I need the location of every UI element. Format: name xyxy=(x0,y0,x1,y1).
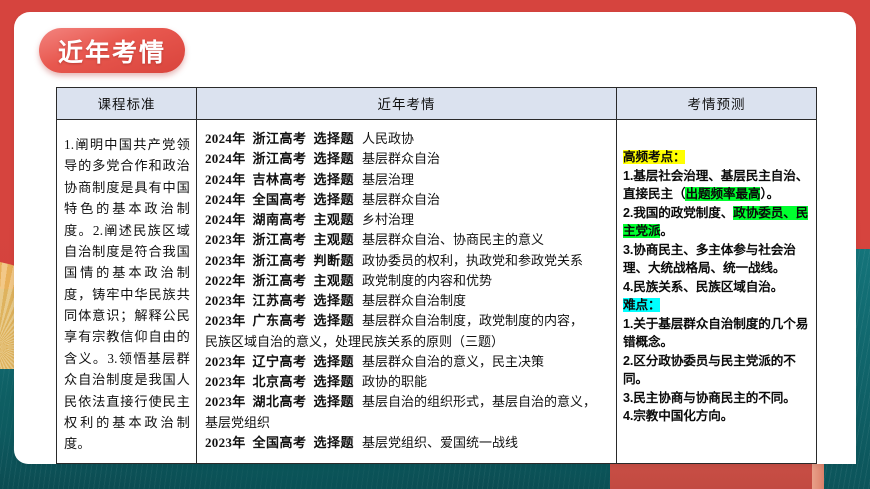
cell-recent-exams: 2024年浙江高考选择题人民政协2024年浙江高考选择题基层群众自治2024年吉… xyxy=(197,120,617,464)
hot-item-tail: 。 xyxy=(660,224,673,238)
exam-year: 2024年 xyxy=(205,192,246,207)
slide-root: 近年考情 课程标准 近年考情 考情预测 xyxy=(0,0,870,489)
exam-region: 浙江高考 xyxy=(253,232,307,247)
exam-row: 2023年北京高考选择题政协的职能 xyxy=(205,372,610,392)
exam-year: 2024年 xyxy=(205,212,246,227)
cell-exam-prediction: 高频考点：1.基层社会治理、基层民主自治、直接民主（出题频率最高）。2.我国的政… xyxy=(617,120,817,464)
prediction-hard-item: 2.区分政协委员与民主党派的不同。 xyxy=(623,352,811,389)
exam-year: 2024年 xyxy=(205,151,246,166)
exam-row: 2024年浙江高考选择题基层群众自治 xyxy=(205,149,610,169)
exam-question-type: 选择题 xyxy=(314,374,355,389)
exam-question-type: 主观题 xyxy=(314,232,355,247)
exam-question-type: 选择题 xyxy=(314,192,355,207)
exam-year: 2023年 xyxy=(205,374,246,389)
exam-topic: 基层群众自治 xyxy=(362,192,440,207)
exam-year: 2024年 xyxy=(205,172,246,187)
exam-region: 北京高考 xyxy=(253,374,307,389)
exam-topic: 基层群众自治制度，政党制度的内容， xyxy=(362,313,583,328)
exam-year: 2023年 xyxy=(205,394,246,409)
exam-question-type: 选择题 xyxy=(314,131,355,146)
exam-topic: 基层自治的组织形式，基层自治的意义， xyxy=(362,394,596,409)
exam-year: 2023年 xyxy=(205,293,246,308)
exam-topic: 政党制度的内容和优势 xyxy=(362,273,492,288)
exam-row: 2024年湖南高考主观题乡村治理 xyxy=(205,210,610,230)
exam-question-type: 选择题 xyxy=(314,394,355,409)
hot-item-highlight: 出题频率最高 xyxy=(685,187,760,201)
exam-year: 2023年 xyxy=(205,253,246,268)
hot-label-highlight: 高频考点： xyxy=(623,150,685,164)
exam-topic-continuation: 民族区域自治的意义，处理民族关系的原则（三题） xyxy=(205,332,610,352)
hot-item-text: 2.我国的政党制度、 xyxy=(623,206,733,220)
hard-label-highlight: 难点： xyxy=(623,298,660,312)
header-curriculum-standard: 课程标准 xyxy=(57,88,197,120)
exam-question-type: 选择题 xyxy=(314,293,355,308)
exam-topic: 政协委员的权利，执政党和参政党关系 xyxy=(362,253,583,268)
header-exam-prediction: 考情预测 xyxy=(617,88,817,120)
content-card: 近年考情 课程标准 近年考情 考情预测 xyxy=(14,12,856,464)
section-title-badge: 近年考情 xyxy=(39,28,185,73)
exam-question-type: 选择题 xyxy=(314,435,355,450)
exam-region: 浙江高考 xyxy=(253,253,307,268)
exam-row: 2024年吉林高考选择题基层治理 xyxy=(205,170,610,190)
exam-region: 浙江高考 xyxy=(253,131,307,146)
exam-topic: 基层群众自治制度 xyxy=(362,293,466,308)
exam-row: 2023年广东高考选择题基层群众自治制度，政党制度的内容， xyxy=(205,311,610,331)
exam-topic: 基层治理 xyxy=(362,172,414,187)
table-header-row: 课程标准 近年考情 考情预测 xyxy=(57,88,817,120)
exam-region: 广东高考 xyxy=(253,313,307,328)
exam-region: 浙江高考 xyxy=(253,151,307,166)
exam-topic: 乡村治理 xyxy=(362,212,414,227)
exam-year: 2024年 xyxy=(205,131,246,146)
exam-question-type: 主观题 xyxy=(314,273,355,288)
curriculum-standards-text: 1.阐明中国共产党领导的多党合作和政治协商制度是具有中国特色的基本政治制度。2.… xyxy=(64,134,190,455)
exam-region: 吉林高考 xyxy=(253,172,307,187)
exam-topic: 基层群众自治 xyxy=(362,151,440,166)
prediction-hot-label: 高频考点： xyxy=(623,148,811,167)
exam-question-type: 主观题 xyxy=(314,212,355,227)
exam-row: 2023年浙江高考主观题基层群众自治、协商民主的意义 xyxy=(205,230,610,250)
exam-topic: 人民政协 xyxy=(362,131,414,146)
exam-table: 课程标准 近年考情 考情预测 1.阐明中国共产党领导的多党合作和政治协商制度是具… xyxy=(56,87,817,464)
exam-region: 湖北高考 xyxy=(253,394,307,409)
exam-row: 2023年浙江高考判断题政协委员的权利，执政党和参政党关系 xyxy=(205,251,610,271)
table-body-row: 1.阐明中国共产党领导的多党合作和政治协商制度是具有中国特色的基本政治制度。2.… xyxy=(57,120,817,464)
exam-region: 全国高考 xyxy=(253,435,307,450)
recent-exams-list: 2024年浙江高考选择题人民政协2024年浙江高考选择题基层群众自治2024年吉… xyxy=(205,129,610,453)
exam-region: 辽宁高考 xyxy=(253,354,307,369)
exam-topic: 基层群众自治、协商民主的意义 xyxy=(362,232,544,247)
prediction-hot-item: 3.协商民主、多主体参与社会治理、大统战格局、统一战线。 xyxy=(623,241,811,278)
section-title-text: 近年考情 xyxy=(58,33,166,69)
exam-topic-continuation: 基层党组织 xyxy=(205,413,610,433)
prediction-hard-label: 难点： xyxy=(623,296,811,315)
exam-year: 2022年 xyxy=(205,273,246,288)
exam-year: 2023年 xyxy=(205,354,246,369)
exam-year: 2023年 xyxy=(205,232,246,247)
prediction-hard-item: 4.宗教中国化方向。 xyxy=(623,407,811,426)
exam-question-type: 选择题 xyxy=(314,313,355,328)
exam-region: 江苏高考 xyxy=(253,293,307,308)
exam-question-type: 选择题 xyxy=(314,172,355,187)
exam-region: 全国高考 xyxy=(253,192,307,207)
exam-row: 2023年辽宁高考选择题基层群众自治的意义，民主决策 xyxy=(205,352,610,372)
cell-curriculum-standards: 1.阐明中国共产党领导的多党合作和政治协商制度是具有中国特色的基本政治制度。2.… xyxy=(57,120,197,464)
exam-region: 浙江高考 xyxy=(253,273,307,288)
exam-row: 2022年浙江高考主观题政党制度的内容和优势 xyxy=(205,271,610,291)
exam-row: 2024年浙江高考选择题人民政协 xyxy=(205,129,610,149)
hot-item-text: 4.民族关系、民族区域自治。 xyxy=(623,280,783,294)
exam-table-wrapper: 课程标准 近年考情 考情预测 1.阐明中国共产党领导的多党合作和政治协商制度是具… xyxy=(56,87,816,464)
exam-topic: 基层群众自治的意义，民主决策 xyxy=(362,354,544,369)
exam-region: 湖南高考 xyxy=(253,212,307,227)
exam-year: 2023年 xyxy=(205,435,246,450)
exam-question-type: 判断题 xyxy=(314,253,355,268)
exam-row: 2024年全国高考选择题基层群众自治 xyxy=(205,190,610,210)
exam-row: 2023年江苏高考选择题基层群众自治制度 xyxy=(205,291,610,311)
exam-prediction-block: 高频考点：1.基层社会治理、基层民主自治、直接民主（出题频率最高）。2.我国的政… xyxy=(623,148,811,426)
exam-topic: 基层党组织、爱国统一战线 xyxy=(362,435,518,450)
exam-row: 2023年全国高考选择题基层党组织、爱国统一战线 xyxy=(205,433,610,453)
hot-item-tail: ）。 xyxy=(760,187,779,201)
prediction-hot-item: 2.我国的政党制度、政协委员、民主党派。 xyxy=(623,204,811,241)
exam-row: 2023年湖北高考选择题基层自治的组织形式，基层自治的意义， xyxy=(205,392,610,412)
header-recent-exams: 近年考情 xyxy=(197,88,617,120)
exam-year: 2023年 xyxy=(205,313,246,328)
hot-item-text: 3.协商民主、多主体参与社会治理、大统战格局、统一战线。 xyxy=(623,243,796,276)
prediction-hard-item: 1.关于基层群众自治制度的几个易错概念。 xyxy=(623,315,811,352)
prediction-hot-item: 1.基层社会治理、基层民主自治、直接民主（出题频率最高）。 xyxy=(623,167,811,204)
exam-topic: 政协的职能 xyxy=(362,374,427,389)
prediction-hard-item: 3.民主协商与协商民主的不同。 xyxy=(623,389,811,408)
prediction-hot-item: 4.民族关系、民族区域自治。 xyxy=(623,278,811,297)
exam-question-type: 选择题 xyxy=(314,354,355,369)
exam-question-type: 选择题 xyxy=(314,151,355,166)
